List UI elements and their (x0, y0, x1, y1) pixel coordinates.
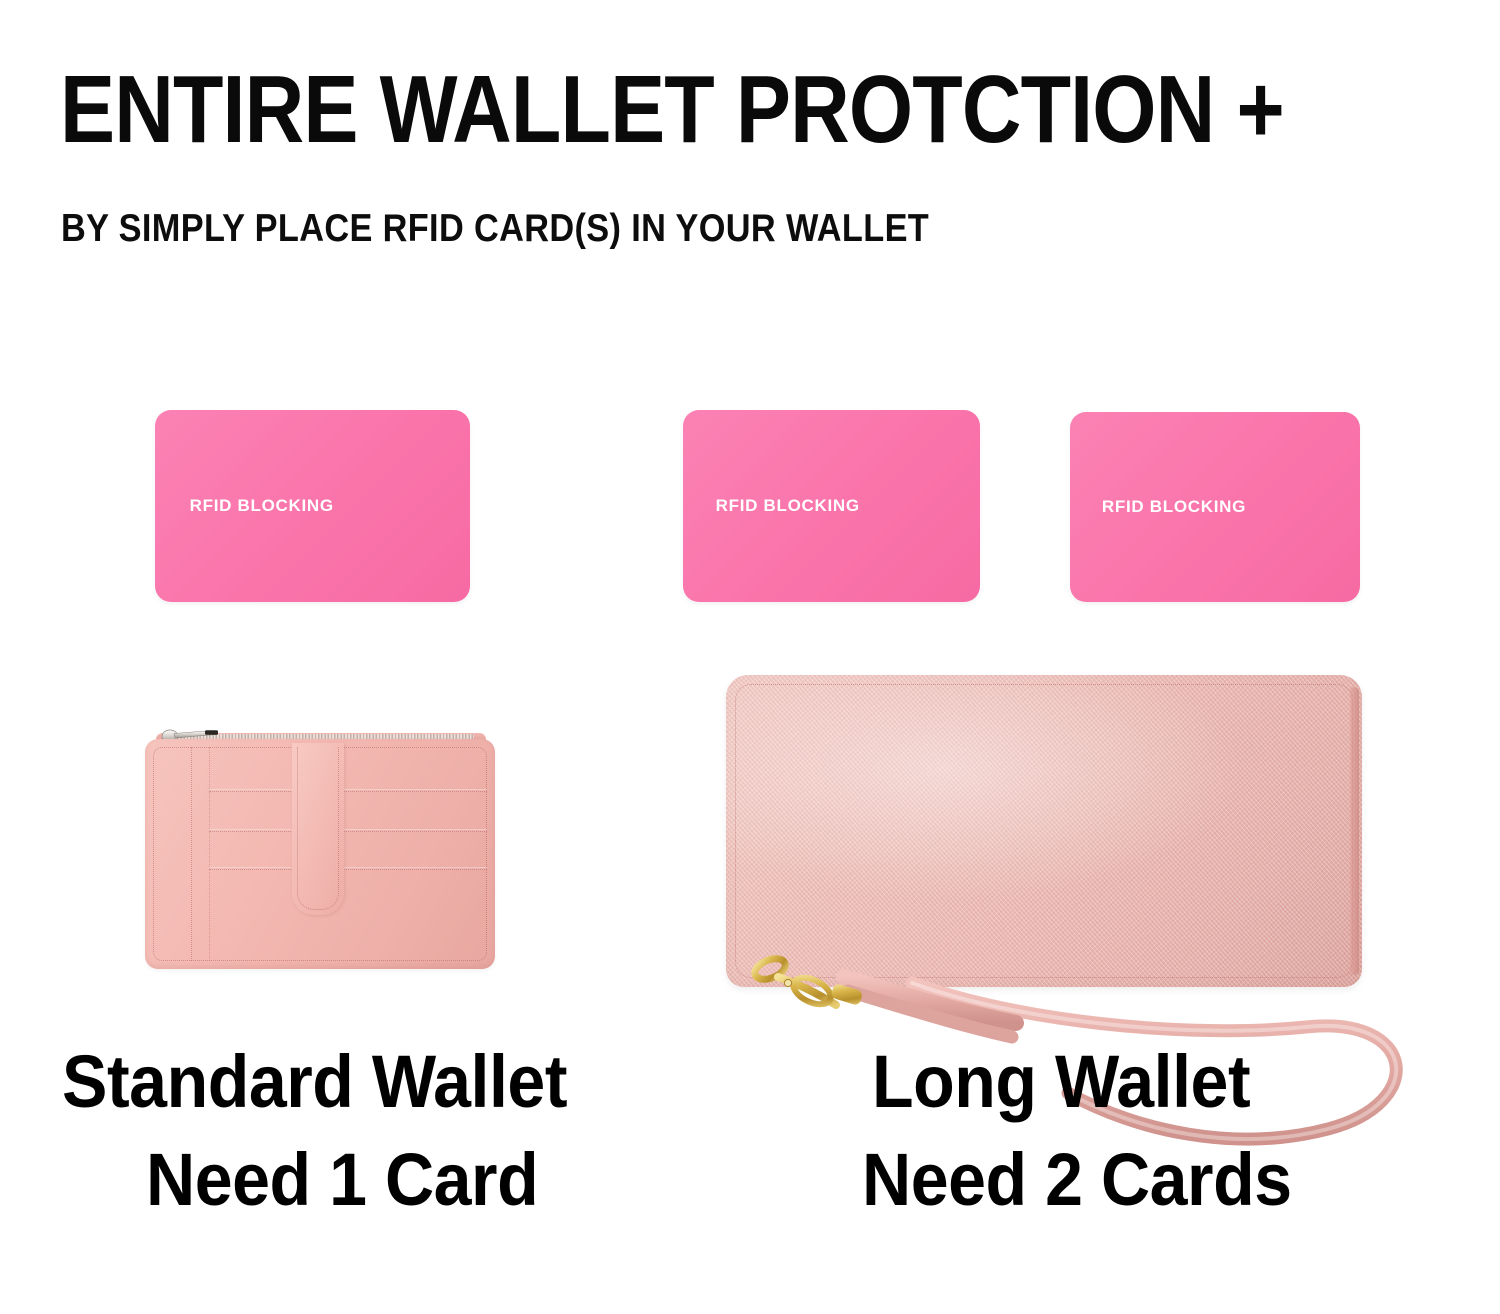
rfid-card-label: RFID BLOCKING (716, 496, 860, 516)
infographic-page: ENTIRE WALLET PROTCTION + BY SIMPLY PLAC… (0, 0, 1500, 1314)
zipper-spine-icon (1350, 687, 1359, 975)
rfid-card: RFID BLOCKING (1070, 412, 1360, 602)
page-title: ENTIRE WALLET PROTCTION + (60, 62, 1284, 158)
wallet-body (726, 675, 1362, 987)
rfid-card-label: RFID BLOCKING (190, 496, 334, 516)
standard-wallet-image (134, 712, 506, 970)
rfid-card: RFID BLOCKING (155, 410, 470, 602)
card-slot (209, 831, 487, 832)
long-wallet-requirement: Need 2 Cards (862, 1142, 1292, 1218)
standard-wallet-requirement: Need 1 Card (146, 1142, 538, 1218)
wallet-body (145, 739, 495, 969)
standard-wallet-name: Standard Wallet (62, 1044, 567, 1120)
stitch-outline (297, 747, 339, 910)
side-pocket-seam (209, 747, 210, 961)
long-wallet-image (726, 675, 1366, 1005)
side-pocket-seam (191, 747, 192, 961)
stitch-outline (735, 684, 1353, 978)
rfid-card-label: RFID BLOCKING (1102, 497, 1246, 517)
center-tab (292, 743, 344, 915)
rfid-card: RFID BLOCKING (683, 410, 980, 602)
page-subtitle: BY SIMPLY PLACE RFID CARD(S) IN YOUR WAL… (61, 208, 929, 250)
card-slot (209, 869, 487, 870)
long-wallet-name: Long Wallet (872, 1044, 1250, 1120)
card-slot (209, 791, 487, 792)
